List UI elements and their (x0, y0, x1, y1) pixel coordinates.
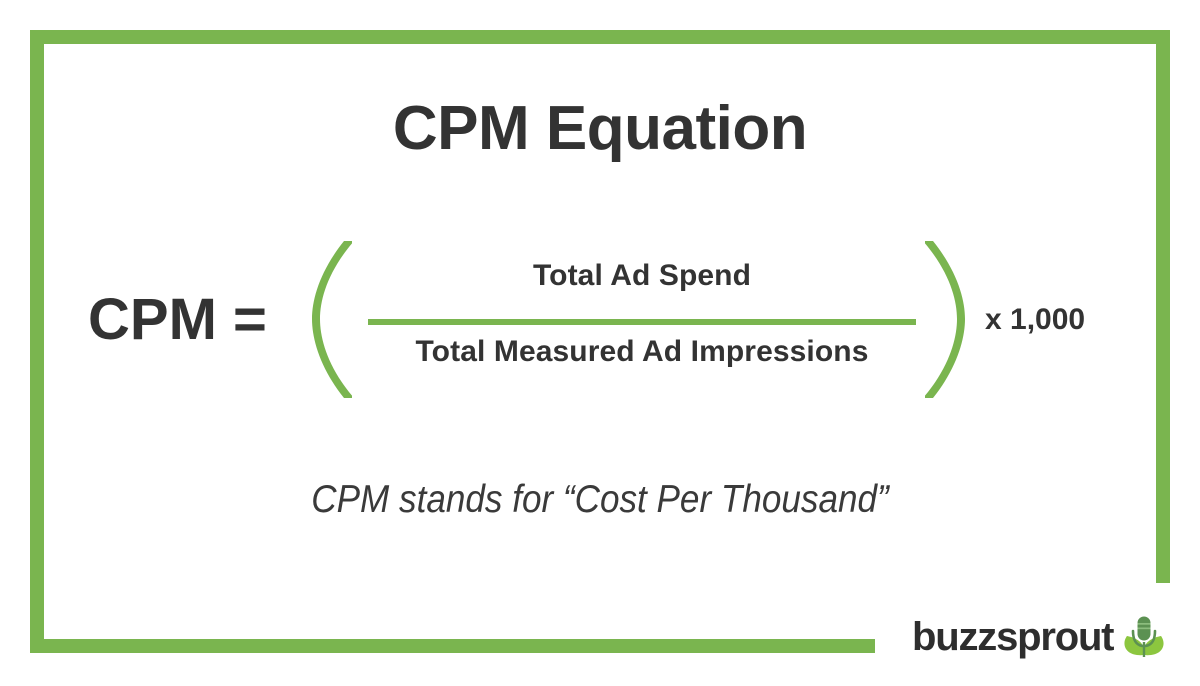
buzzsprout-logo: buzzsprout (912, 613, 1164, 661)
microphone-sprout-icon (1124, 616, 1164, 658)
logo-wordmark: buzzsprout (912, 617, 1113, 657)
frame-border-top (30, 30, 1170, 44)
fraction-bar (368, 319, 916, 325)
fraction-numerator: Total Ad Spend (368, 259, 916, 293)
infographic-canvas: CPM Equation CPM = Total Ad Spend Total … (0, 0, 1200, 686)
fraction-denominator: Total Measured Ad Impressions (368, 335, 916, 369)
frame-border-bottom (30, 639, 875, 653)
open-parenthesis-icon (312, 237, 352, 402)
equation-multiplier: x 1,000 (985, 237, 1085, 402)
equation-left-hand-side: CPM = (88, 237, 298, 402)
caption-text: CPM stands for “Cost Per Thousand” (60, 478, 1140, 522)
cpm-equation: CPM = Total Ad Spend Total Measured Ad I… (0, 237, 1200, 402)
close-parenthesis-icon (925, 237, 965, 402)
page-title: CPM Equation (0, 96, 1200, 161)
fraction: Total Ad Spend Total Measured Ad Impress… (368, 237, 916, 402)
